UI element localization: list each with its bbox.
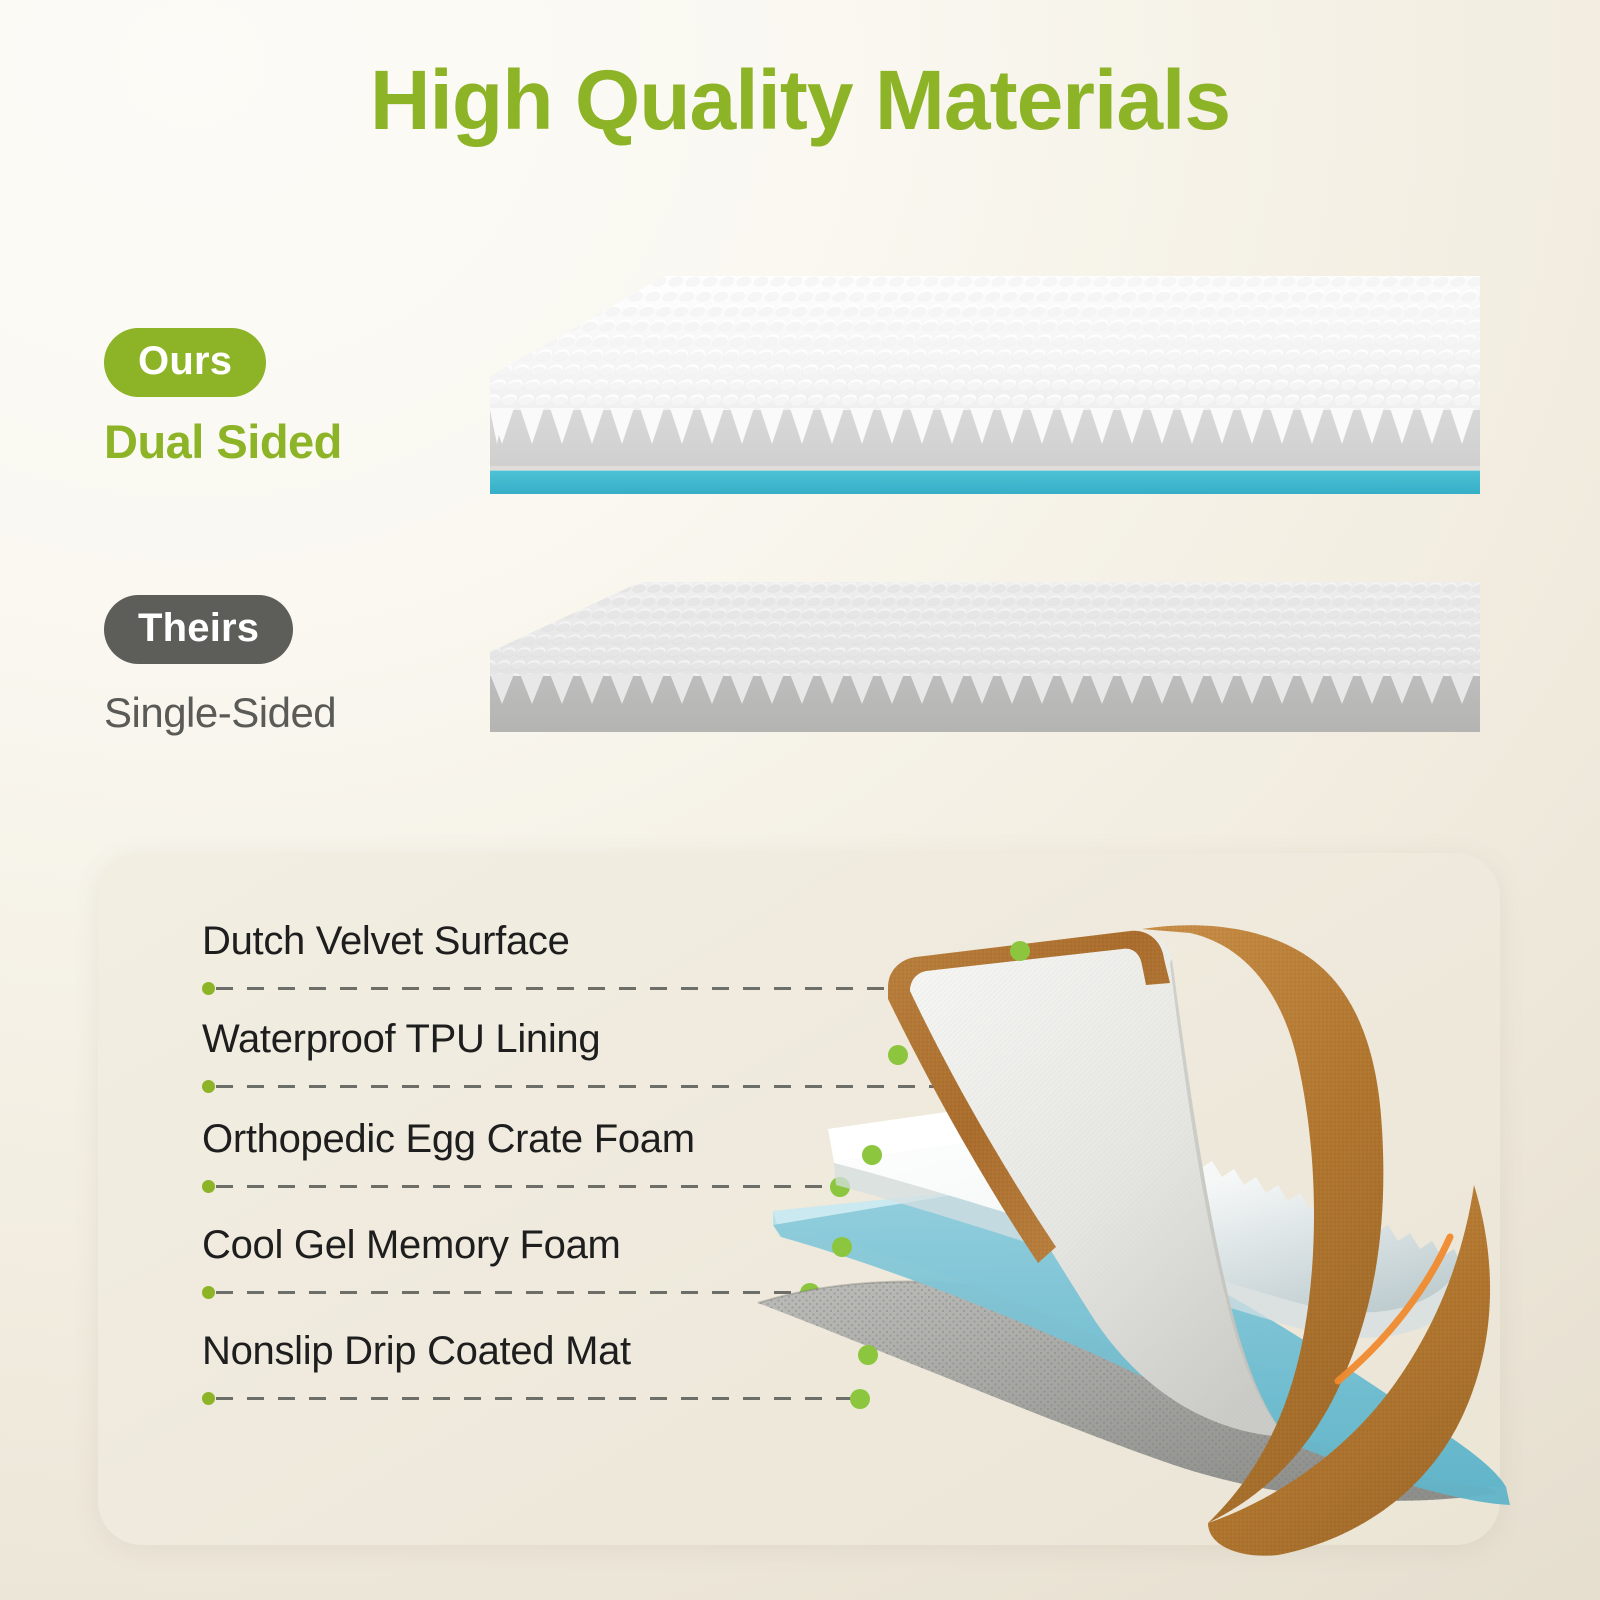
- comparison-label-theirs: Theirs Single-Sided: [104, 595, 336, 734]
- layered-product-illustration: [738, 833, 1538, 1563]
- leader-dot-gel-icon: [832, 1237, 852, 1257]
- leader-dot-foam-icon: [862, 1145, 882, 1165]
- subtitle-theirs: Single-Sided: [104, 692, 336, 734]
- leader-dash: [216, 1291, 806, 1294]
- leader-dot-mat-icon: [858, 1345, 878, 1365]
- subtitle-ours: Dual Sided: [104, 418, 342, 465]
- leader-dot-start-icon: [202, 1392, 215, 1405]
- materials-card: Dutch Velvet Surface Waterproof TPU Lini…: [98, 853, 1500, 1545]
- badge-theirs: Theirs: [104, 595, 293, 664]
- leader-dot-start-icon: [202, 1180, 215, 1193]
- mattress-illustration-theirs: [490, 568, 1480, 748]
- comparison-label-ours: Ours Dual Sided: [104, 328, 342, 465]
- leader-dot-tpu-icon: [888, 1045, 908, 1065]
- leader-dot-start-icon: [202, 1080, 215, 1093]
- comparison-row-theirs: Theirs Single-Sided: [0, 540, 1600, 760]
- leader-dot-start-icon: [202, 1286, 215, 1299]
- mattress-illustration-ours: [490, 258, 1480, 498]
- leader-dot-velvet-icon: [1010, 941, 1030, 961]
- badge-ours: Ours: [104, 328, 266, 397]
- leader-dot-start-icon: [202, 982, 215, 995]
- comparison-row-ours: Ours Dual Sided: [0, 250, 1600, 510]
- page-title: High Quality Materials: [0, 58, 1600, 142]
